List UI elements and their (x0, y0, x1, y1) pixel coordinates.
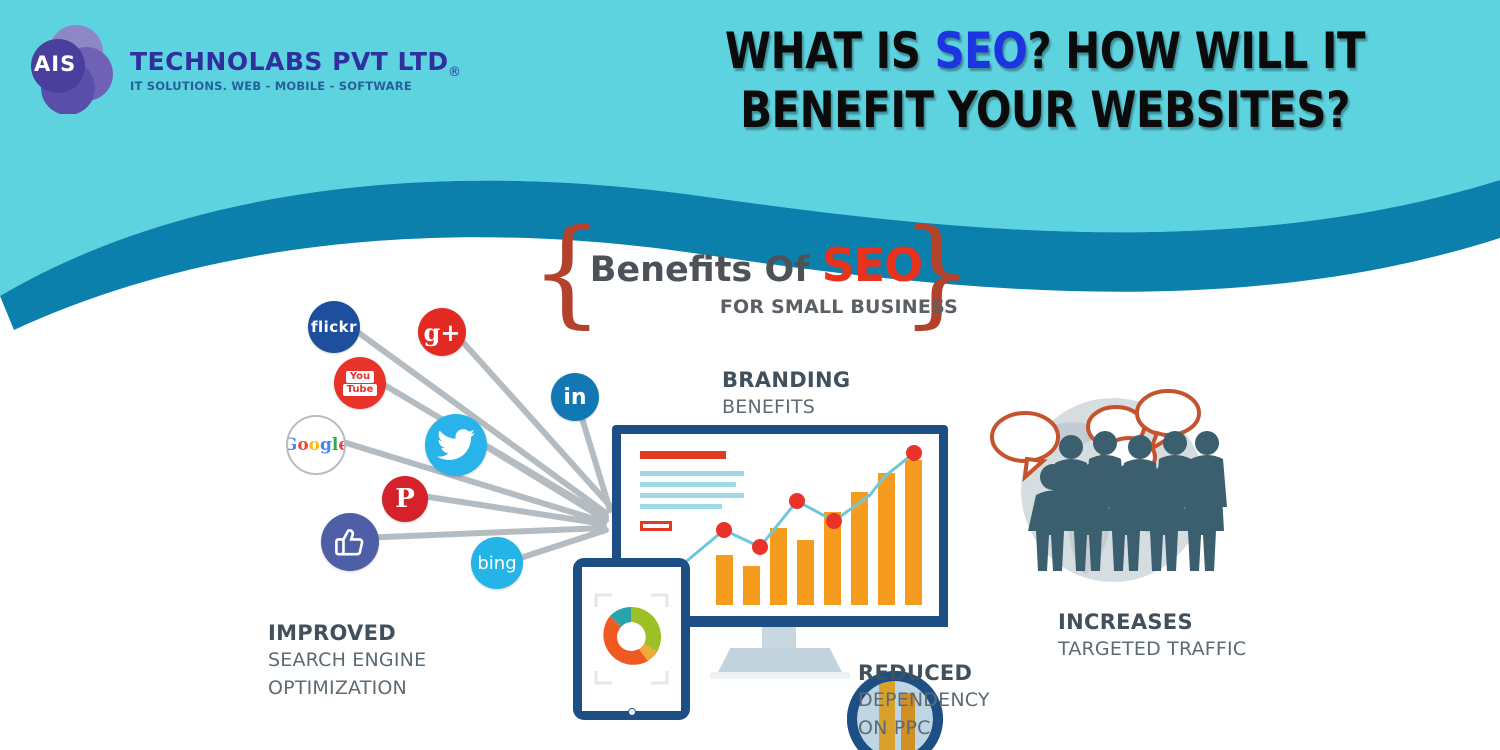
social-icon-facebook-like[interactable] (321, 513, 379, 571)
twitter-bird-icon (437, 429, 475, 461)
callout-branding-title: BRANDING (722, 366, 850, 394)
callout-improved-line2: OPTIMIZATION (268, 675, 426, 703)
callout-improved-title: IMPROVED (268, 619, 426, 647)
social-label-google: Google (286, 435, 346, 455)
page-title-line2: BENEFIT YOUR WEBSITES? (678, 81, 1413, 140)
social-icon-pinterest[interactable]: P (382, 476, 428, 522)
ais-logo-mark: AIS (24, 22, 116, 114)
social-label-flickr: flickr (311, 318, 357, 336)
callout-increases-line1: TARGETED TRAFFIC (1058, 636, 1246, 664)
social-icon-flickr[interactable]: flickr (308, 301, 360, 353)
callout-reduced-title: REDUCED (858, 659, 990, 687)
social-icon-youtube[interactable]: You Tube (334, 357, 386, 409)
title-accent-seo: SEO (934, 22, 1027, 80)
monitor-stand-foot (710, 672, 850, 679)
callout-improved: IMPROVED SEARCH ENGINE OPTIMIZATION (268, 619, 426, 702)
social-label-bing: bing (477, 553, 516, 574)
callout-reduced: REDUCED DEPENDENCY ON PPC (858, 659, 990, 742)
header: AIS TECHNOLABS PVT LTD IT SOLUTIONS. WEB… (0, 0, 1500, 190)
callout-branding-line1: BENEFITS (722, 394, 850, 422)
callout-increases: INCREASES TARGETED TRAFFIC (1058, 608, 1246, 664)
callout-increases-title: INCREASES (1058, 608, 1246, 636)
thumbs-up-icon (333, 526, 367, 558)
page-title-line1: WHAT IS SEO? HOW WILL IT (678, 22, 1413, 81)
callout-reduced-line1: DEPENDENCY (858, 687, 990, 715)
brand-name: TECHNOLABS PVT LTD (130, 49, 449, 74)
callout-reduced-line2: ON PPC (858, 715, 990, 743)
social-icon-googleplus[interactable]: g+ (418, 308, 466, 356)
page-title: WHAT IS SEO? HOW WILL IT BENEFIT YOUR WE… (678, 22, 1413, 140)
svg-text:AIS: AIS (34, 52, 76, 76)
tablet-home-button[interactable] (628, 708, 636, 716)
infographic: { } Benefits Of SEO FOR SMALL BUSINESS (0, 190, 1500, 750)
title-segment-after: ? HOW WILL IT (1027, 22, 1365, 80)
social-label-linkedin: in (563, 385, 586, 410)
brand-logo[interactable]: AIS TECHNOLABS PVT LTD IT SOLUTIONS. WEB… (24, 20, 444, 115)
callout-improved-line1: SEARCH ENGINE (268, 647, 426, 675)
social-label-pinterest: P (395, 484, 415, 514)
social-label-youtube-bottom: Tube (343, 384, 378, 396)
brand-tagline: IT SOLUTIONS. WEB - MOBILE - SOFTWARE (130, 81, 449, 93)
monitor-neck (762, 627, 796, 649)
social-icon-twitter[interactable] (425, 414, 487, 476)
social-label-googleplus: g+ (424, 318, 461, 347)
social-icon-bing[interactable]: bing (471, 537, 523, 589)
social-label-youtube-top: You (346, 371, 374, 383)
poster-canvas: AIS TECHNOLABS PVT LTD IT SOLUTIONS. WEB… (0, 0, 1500, 750)
monitor-stand (718, 648, 842, 672)
title-segment-before: WHAT IS (725, 22, 935, 80)
callout-branding: BRANDING BENEFITS (722, 366, 850, 422)
social-icon-google[interactable]: Google (286, 415, 346, 475)
social-icon-linkedin[interactable]: in (551, 373, 599, 421)
tablet-screen (582, 567, 681, 711)
tablet-device (573, 558, 690, 720)
audience-illustration (985, 385, 1235, 615)
registered-mark-icon: ® (448, 65, 461, 80)
